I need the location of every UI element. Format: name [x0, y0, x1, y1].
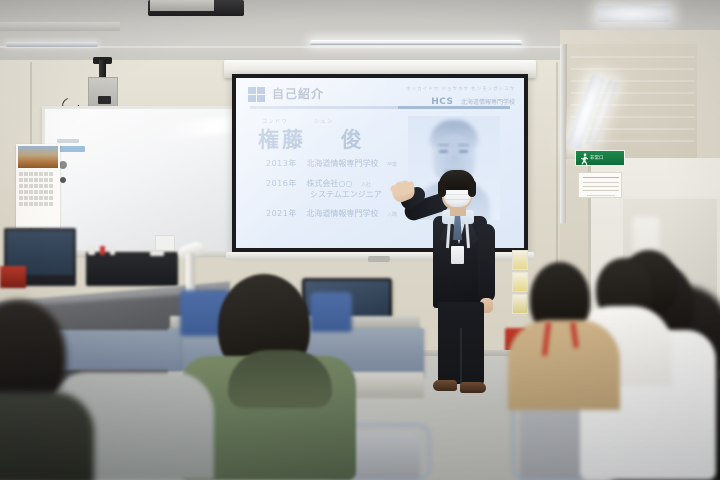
student-top — [0, 392, 94, 480]
ceiling-light-right — [598, 6, 670, 22]
presenter-id-badge — [451, 246, 464, 264]
emergency-exit-sign: 非常口 — [575, 150, 625, 166]
presenter-hair-side-left — [438, 180, 446, 197]
history-text: 北海道情報専門学校 — [306, 209, 378, 218]
chair-blue-center[interactable] — [310, 292, 352, 332]
console-switch[interactable] — [88, 246, 95, 255]
whiteboard-magnet — [59, 161, 67, 169]
classroom-photo: 自己紹介 ホッカイドウ ジョウホウ センモンガッコウ HCS 北海道情報専門学校… — [0, 0, 720, 480]
student-jacket — [508, 320, 620, 410]
presenter-hair-side-right — [468, 180, 476, 197]
wall-conduit — [560, 44, 566, 224]
whiteboard-note — [57, 139, 79, 143]
history-note: 入社 — [361, 182, 371, 188]
ceiling-panel — [0, 22, 120, 31]
exit-sign-text: 非常口 — [590, 155, 604, 161]
presenter-name-given: 俊 — [341, 128, 365, 152]
presenter-name-family: 権藤 — [258, 128, 306, 152]
presenter-shoe-left — [433, 380, 457, 391]
history-text: 北海道情報専門学校 — [306, 159, 378, 168]
presenter-shoe-right — [460, 382, 486, 393]
history-text: 株式会社○○ — [306, 179, 352, 188]
projection-screen-pull-handle[interactable] — [368, 256, 390, 262]
history-note: 卒業 — [387, 162, 397, 168]
whiteboard-eraser[interactable] — [155, 235, 175, 251]
console-switch-2[interactable] — [110, 247, 115, 255]
portrait-eye-right — [459, 150, 468, 153]
console-indicator — [100, 246, 105, 255]
school-brand-kana: ホッカイドウ ジョウホウ センモンガッコウ — [406, 86, 515, 92]
grid-logo-icon — [248, 87, 265, 102]
school-brand-name: 北海道情報専門学校 — [461, 97, 515, 106]
history-year: 2016年 — [266, 179, 297, 188]
history-year: 2013年 — [266, 159, 297, 168]
history-row: 2021年 北海道情報専門学校 入職 — [266, 208, 397, 219]
ceiling-light-center — [310, 40, 522, 45]
history-subtext: システムエンジニア — [310, 189, 382, 200]
presenter-trouser-seam — [460, 328, 462, 384]
presenter-face-mask — [444, 187, 471, 207]
ceiling-projector-body — [150, 0, 214, 11]
slide-title: 自己紹介 — [272, 85, 324, 102]
calendar-photo — [18, 146, 58, 168]
calendar-date-grid — [19, 172, 57, 224]
presenter-name: 権藤 俊 — [258, 124, 365, 154]
history-year: 2021年 — [266, 209, 297, 218]
history-row: 2013年 北海道情報専門学校 卒業 — [266, 158, 397, 169]
console-label — [150, 250, 164, 256]
history-note: 入職 — [387, 212, 397, 218]
portrait-eye-left — [439, 150, 448, 153]
ceiling-light-left — [6, 42, 98, 47]
console-red-case — [0, 266, 26, 288]
whiteboard-magnet-2 — [60, 177, 66, 183]
evacuation-notice — [578, 172, 622, 198]
wall-calendar — [16, 144, 60, 228]
upper-right-louver-wall — [565, 44, 697, 159]
presenter-right-arm — [478, 224, 495, 302]
running-person-icon — [580, 153, 589, 165]
student-hood-collar — [228, 350, 332, 408]
history-row: 2016年 株式会社○○ 入社 — [266, 178, 371, 189]
school-brand-mark: HCS — [431, 97, 453, 107]
school-brand: ホッカイドウ ジョウホウ センモンガッコウ HCS 北海道情報専門学校 — [406, 86, 515, 111]
